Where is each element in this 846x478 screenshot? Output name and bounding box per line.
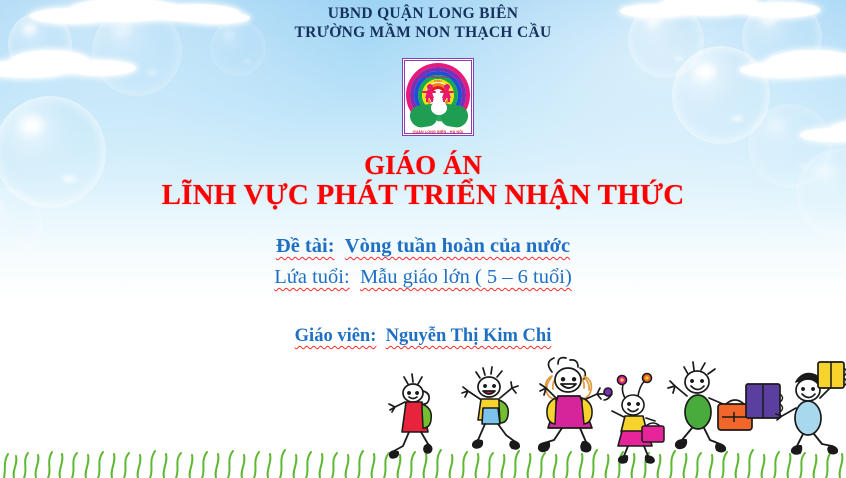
doodle-boy-blue-shirt bbox=[778, 360, 846, 460]
logo-child-right bbox=[440, 84, 453, 102]
page-title-main: GIÁO ÁN bbox=[0, 150, 846, 181]
logo-child-left bbox=[423, 84, 436, 102]
doodle-girl-red-dress bbox=[378, 374, 450, 460]
teacher-value: Nguyễn Thị Kim Chi bbox=[386, 326, 552, 346]
page-title-sub: LĨNH VỰC PHÁT TRIỂN NHẬN THỨC bbox=[0, 180, 846, 211]
doodle-boy-yellow-blue bbox=[452, 366, 532, 458]
lesson-plan-title-slide: UBND QUẬN LONG BIÊN TRƯỜNG MẦM NON THẠCH… bbox=[0, 0, 846, 478]
header-line-district: UBND QUẬN LONG BIÊN bbox=[0, 4, 846, 23]
header-line-school: TRƯỜNG MẦM NON THẠCH CẦU bbox=[0, 23, 846, 42]
school-logo: TRƯỜNG MẦM NON THẠCH CẦU QUẬN LONG BIÊ bbox=[402, 58, 474, 136]
age-label: Lứa tuổi: bbox=[274, 266, 349, 288]
topic-row: Đề tài: Vòng tuần hoàn của nước bbox=[0, 235, 846, 258]
age-row: Lứa tuổi: Mẫu giáo lớn ( 5 – 6 tuổi) bbox=[0, 266, 846, 289]
header-block: UBND QUẬN LONG BIÊN TRƯỜNG MẦM NON THẠCH… bbox=[0, 4, 846, 42]
logo-base-text: QUẬN LONG BIÊN - HÀ NỘI bbox=[403, 130, 473, 134]
topic-label: Đề tài: bbox=[276, 235, 335, 257]
age-value: Mẫu giáo lớn ( 5 – 6 tuổi) bbox=[360, 266, 572, 288]
teacher-label: Giáo viên: bbox=[295, 326, 377, 346]
topic-value: Vòng tuần hoàn của nước bbox=[345, 235, 570, 257]
logo-hands-leaves bbox=[410, 103, 468, 127]
logo-children-figures bbox=[421, 84, 455, 102]
ground-illustration bbox=[0, 358, 846, 478]
teacher-row: Giáo viên: Nguyễn Thị Kim Chi bbox=[0, 326, 846, 347]
